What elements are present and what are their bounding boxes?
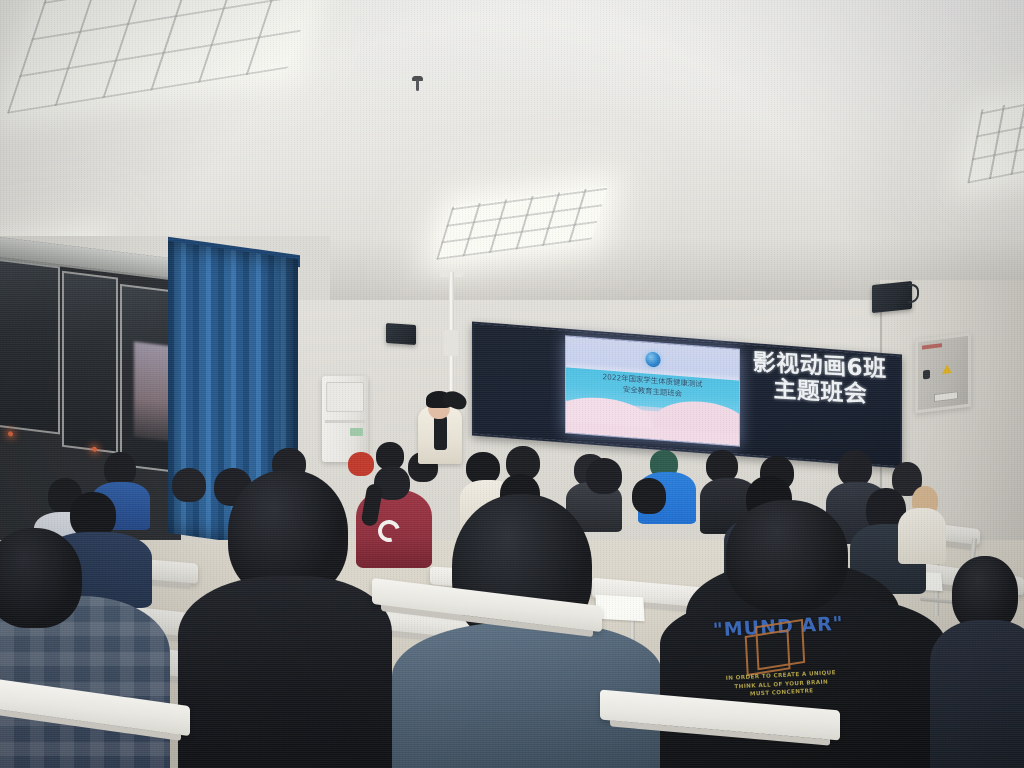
chalkboard-text: 影视动画6班 主题班会 xyxy=(745,350,894,409)
window-pane xyxy=(62,271,118,454)
wall-speaker-right xyxy=(872,281,912,313)
student-body-black-hoodie xyxy=(178,576,392,768)
student-head-foreground xyxy=(726,500,848,612)
pole-junction-box xyxy=(444,330,458,356)
window-light-reflection xyxy=(92,446,97,452)
student-head xyxy=(586,458,622,494)
panel-id-tag xyxy=(934,391,958,402)
slide-globe-emblem-icon xyxy=(645,351,660,367)
electrical-panel[interactable] xyxy=(915,333,971,414)
student-head-foreground xyxy=(0,528,82,628)
sprinkler-head-icon xyxy=(412,76,423,93)
panel-warning-label xyxy=(922,343,942,349)
student-head xyxy=(632,478,666,514)
paper-sheet xyxy=(595,595,644,622)
student-body xyxy=(898,508,946,564)
student-body xyxy=(930,620,1024,768)
warning-triangle-icon xyxy=(942,364,952,374)
student-head xyxy=(172,468,206,502)
air-conditioner xyxy=(322,376,368,462)
projection-screen: 2022年国家学生体质健康测试 安全教育主题班会 xyxy=(565,335,740,446)
wall-speaker-left xyxy=(386,323,416,345)
classroom-photo: 影视动画6班 主题班会 2022年国家学生体质健康测试 安全教育主题班会 xyxy=(0,0,1024,768)
window-pane xyxy=(0,258,60,435)
student-head xyxy=(348,452,374,476)
student-head xyxy=(104,452,136,486)
lock-icon xyxy=(923,370,930,380)
student-head xyxy=(838,450,872,486)
window-light-reflection xyxy=(8,431,13,437)
